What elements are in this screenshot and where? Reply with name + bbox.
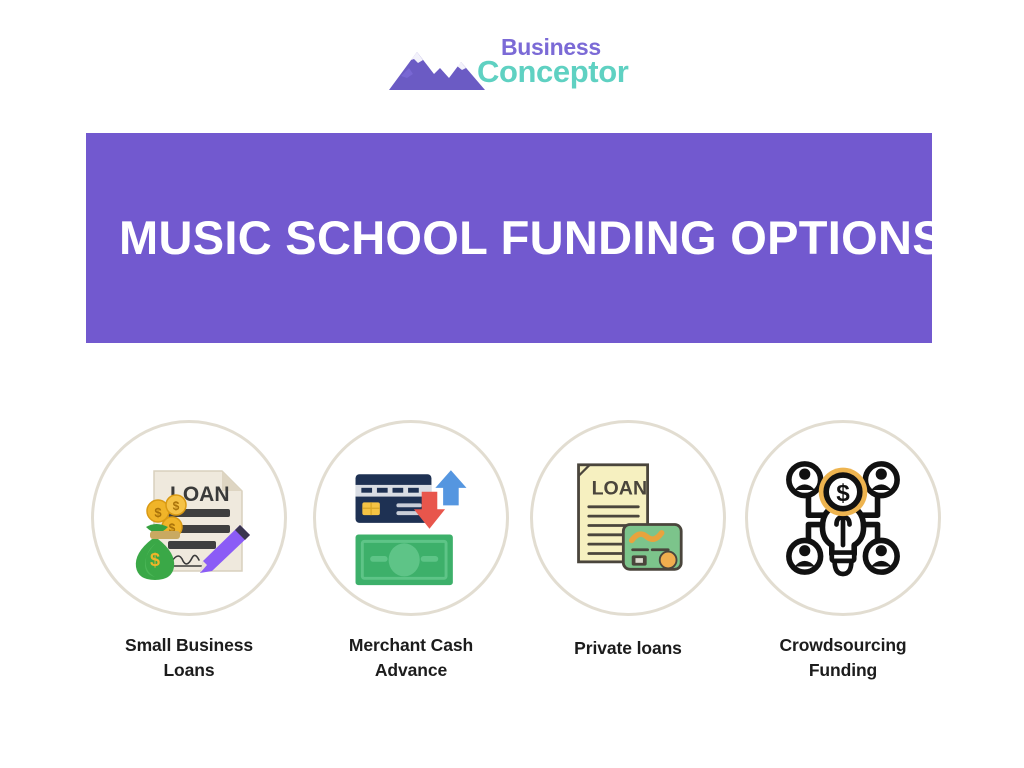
- svg-text:$: $: [836, 480, 850, 507]
- icon-circle: LOAN: [530, 420, 726, 616]
- svg-text:$: $: [150, 550, 160, 570]
- icon-circle: $: [745, 420, 941, 616]
- credit-card-cash-exchange-icon: [338, 445, 484, 591]
- funding-option-card[interactable]: $ Crowdsourcing Funding: [743, 420, 943, 684]
- card-label-line2: Funding: [809, 660, 877, 680]
- funding-option-card[interactable]: LOAN: [528, 420, 728, 661]
- card-label-line1: Merchant Cash: [349, 635, 473, 655]
- card-label-line2: Advance: [375, 660, 447, 680]
- crowdsourcing-lightbulb-icon: $: [773, 448, 913, 588]
- icon-circle: [313, 420, 509, 616]
- card-label: Small Business Loans: [89, 633, 289, 684]
- funding-option-card[interactable]: LOAN $ $ $: [89, 420, 289, 684]
- page-title: MUSIC SCHOOL FUNDING OPTIONS: [86, 213, 944, 262]
- card-label-line1: Crowdsourcing: [779, 635, 906, 655]
- card-label: Merchant Cash Advance: [311, 633, 511, 684]
- icon-circle: LOAN $ $ $: [91, 420, 287, 616]
- card-label-line1: Small Business: [125, 635, 253, 655]
- funding-option-card[interactable]: Merchant Cash Advance: [311, 420, 511, 684]
- brand-name-line2: Conceptor: [477, 56, 628, 87]
- card-label-line2: Loans: [163, 660, 214, 680]
- card-label: Private loans: [528, 636, 728, 661]
- svg-text:LOAN: LOAN: [592, 478, 648, 500]
- funding-options-row: LOAN $ $ $: [0, 420, 1024, 710]
- card-label: Crowdsourcing Funding: [743, 633, 943, 684]
- brand-logo: Business Conceptor: [0, 30, 1024, 100]
- loan-document-money-bag-icon: LOAN $ $ $: [114, 443, 264, 593]
- svg-text:$: $: [154, 505, 162, 520]
- svg-text:$: $: [173, 499, 180, 513]
- loan-paper-credit-card-icon: LOAN: [558, 448, 698, 588]
- title-banner: MUSIC SCHOOL FUNDING OPTIONS: [86, 133, 932, 343]
- card-label-line1: Private loans: [574, 638, 682, 658]
